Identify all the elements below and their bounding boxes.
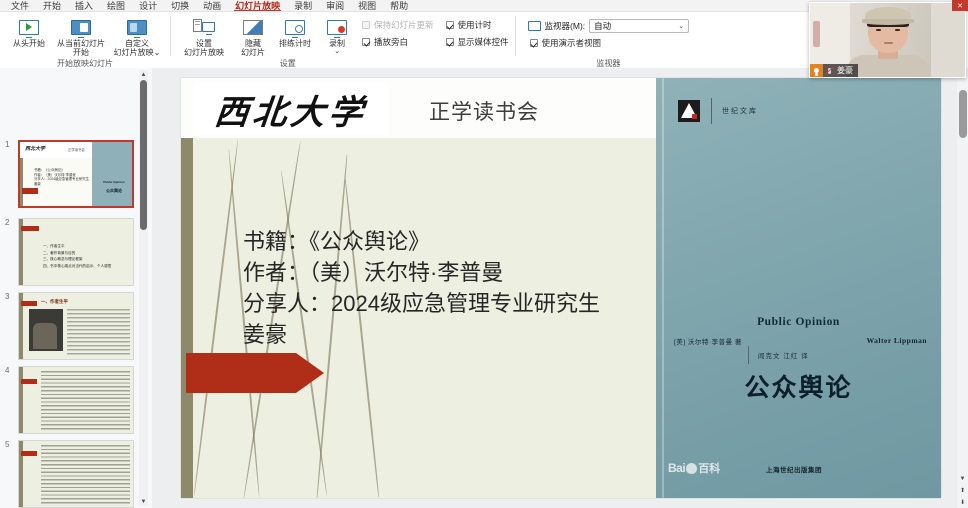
current-slide[interactable]: 西北大学 正学读书会 书籍：《公众舆论》 作者：（美）沃尔特·李普曼 分享人：2… [181,78,941,498]
body-line-3: 分享人：2024级应急管理专业研究生 [243,288,713,319]
setup-slideshow-button[interactable]: 设置 幻灯片放映 [177,14,231,57]
thumb-number-5: 5 [5,440,9,449]
slide-thumbnail-1[interactable]: 西北大学 正学读书会 书籍：《公众舆论》作者：（美）沃尔特·李普曼分享人：202… [18,140,134,208]
show-media-controls-checkbox[interactable]: 显示媒体控件 [446,36,509,48]
webcam-user-name: 姜豪 [837,65,853,76]
thumb-number-3: 3 [5,292,9,301]
record-button[interactable]: 录制 ⌄ [317,14,357,55]
checkbox-box [446,38,454,46]
checkbox-box [530,39,538,47]
webcam-name-label: 姜豪 [810,64,858,77]
rehearse-timings-label: 排练计时 [279,39,311,48]
tab-view[interactable]: 视图 [351,1,383,11]
slide-canvas-area: 西北大学 正学读书会 书籍：《公众舆论》 作者：（美）沃尔特·李普曼 分享人：2… [157,68,957,508]
checkbox-box [362,38,370,46]
keep-slides-updated-checkbox[interactable]: 保持幻灯片更新 [362,19,434,31]
tab-animations[interactable]: 动画 [196,1,228,11]
slide-thumbnail-2[interactable]: 一、作者生平二、著作背景与目的三、核心概念与理论框架四、书中核心观点对当代的启示… [18,218,134,286]
tab-file[interactable]: 文件 [4,1,36,11]
red-arrow-accent [186,353,296,393]
tab-slideshow[interactable]: 幻灯片放映 [228,1,287,11]
record-label: 录制 [329,39,345,48]
university-logo: 西北大学 [193,83,389,135]
slide-thumbnail-5[interactable] [18,440,134,508]
book-spine [662,78,664,498]
slide-thumbnail-3[interactable]: 一、作者生平 [18,292,134,360]
body-line-1: 书籍：《公众舆论》 [243,226,713,257]
rehearse-timings-button[interactable]: 排练计时 [275,14,315,48]
from-current-slide-button[interactable]: 从当前幻灯片 开始 [54,14,108,57]
webcam-wall-right [931,3,965,77]
custom-show-icon [125,16,149,38]
scroll-up-icon[interactable]: ▲ [139,70,148,79]
play-narrations-checkbox[interactable]: 播放旁白 [362,36,434,48]
ribbon-group-settings: 设置 幻灯片放映 隐藏 幻灯片 排练计时 [173,12,513,69]
mic-muted-icon[interactable] [823,68,835,74]
hide-slide-icon [241,16,265,38]
checkbox-box [446,21,454,29]
ribbon-group-monitor: 监视器(M): 自动 ⌄ 使用演示者视图 监视器 [518,12,694,69]
tab-home[interactable]: 开始 [36,1,68,11]
use-timings-checkbox[interactable]: 使用计时 [446,19,509,31]
use-presenter-view-label: 使用演示者视图 [542,37,602,49]
monitor-screen-icon [528,21,541,31]
setup-slideshow-label: 设置 幻灯片放映 [184,39,224,57]
thumb-number-2: 2 [5,218,9,227]
thumbnail-scrollbar[interactable]: ▲ ▼ [139,70,148,506]
book-publisher: 上海世纪出版集团 [766,464,822,474]
settings-checkbox-column-2: 使用计时 显示媒体控件 [436,14,509,48]
record-icon [325,16,349,38]
tab-draw[interactable]: 绘图 [100,1,132,11]
play-narrations-label: 播放旁白 [374,36,408,48]
hide-slide-button[interactable]: 隐藏 幻灯片 [233,14,273,57]
book-title-cn: 公众舆论 [656,368,941,404]
ribbon-divider [515,16,516,56]
setup-show-icon [192,16,216,38]
slide-scrollbar-thumb[interactable] [959,90,967,138]
powerpoint-window: 文件 开始 插入 绘图 设计 切换 动画 幻灯片放映 录制 审阅 视图 帮助 [0,0,968,508]
monitor-label: 监视器(M): [545,20,586,32]
book-divider [711,98,712,124]
keep-slides-updated-label: 保持幻灯片更新 [374,19,434,31]
book-translators: 阎克文 江红 译 [758,350,809,360]
custom-slideshow-label: 自定义 幻灯片放映⌄ [114,39,161,57]
scroll-down-icon[interactable]: ▼ [957,473,968,484]
custom-slideshow-button[interactable]: 自定义 幻灯片放映⌄ [110,14,164,57]
book-title-en: Public Opinion [656,316,941,328]
slide-header-title: 正学读书会 [429,96,539,126]
thumb-number-1: 1 [5,140,9,149]
thumb-number-4: 4 [5,366,9,375]
paw-icon [686,463,697,474]
publisher-logo-icon [678,100,700,122]
book-author-en: Walter Lippman [867,336,927,345]
tab-review[interactable]: 审阅 [319,1,351,11]
scroll-down-icon[interactable]: ▼ [139,497,148,506]
webcam-overlay[interactable]: 姜豪 [809,2,966,78]
chevron-down-icon[interactable]: ⌄ [334,49,340,55]
thumbnail-scrollbar-thumb[interactable] [140,80,147,230]
university-logo-text: 西北大学 [212,85,369,134]
checkbox-box [362,21,370,29]
chevron-down-icon[interactable]: ⌄ [154,48,161,57]
monitor-select-value: 自动 [594,20,611,32]
from-beginning-label: 从头开始 [13,39,45,48]
webcam-person [846,13,930,77]
settings-checkbox-column-1: 保持幻灯片更新 播放旁白 [359,14,434,48]
monitor-select[interactable]: 自动 ⌄ [589,19,689,33]
previous-slide-icon[interactable]: ⬆ [957,485,968,496]
baidu-baike-watermark: Bai百科 [668,460,720,476]
rehearse-timing-icon [283,16,307,38]
tab-insert[interactable]: 插入 [68,1,100,11]
use-timings-label: 使用计时 [458,19,492,31]
editor-main: 1 西北大学 正学读书会 书籍：《公众舆论》作者：（美）沃尔特·李普曼分享人：2… [0,68,968,508]
slide-thumbnail-pane[interactable]: 1 西北大学 正学读书会 书籍：《公众舆论》作者：（美）沃尔特·李普曼分享人：2… [0,68,152,508]
play-screen-icon [17,16,41,38]
body-line-2: 作者：（美）沃尔特·李普曼 [243,257,713,288]
book-cover-image: 世纪文库 Public Opinion [美] 沃尔特·李普曼 著 Walter… [656,78,941,498]
book-author-cn: [美] 沃尔特·李普曼 著 [674,336,742,346]
use-presenter-view-checkbox[interactable]: 使用演示者视图 [528,37,602,49]
close-icon[interactable]: ✕ [952,0,968,11]
next-slide-icon[interactable]: ⬇ [957,497,968,508]
book-rule [748,346,749,364]
slide-body-text: 书籍：《公众舆论》 作者：（美）沃尔特·李普曼 分享人：2024级应急管理专业研… [243,226,713,350]
window-controls: ✕ [952,0,968,11]
slide-scrollbar[interactable]: ▲ ▼ ⬆ ⬇ [957,68,968,508]
chevron-down-icon: ⌄ [678,22,684,30]
tab-design[interactable]: 设计 [132,1,164,11]
hide-slide-label: 隐藏 幻灯片 [241,39,265,57]
webcam-wall-object [813,21,820,47]
from-beginning-button[interactable]: 从头开始 [6,14,52,48]
slide-thumbnail-4[interactable] [18,366,134,434]
tab-record[interactable]: 录制 [287,1,319,11]
show-media-controls-label: 显示媒体控件 [458,36,509,48]
tab-help[interactable]: 帮助 [383,1,415,11]
ribbon-divider [170,16,171,56]
user-icon [810,64,823,77]
body-line-4: 姜豪 [243,319,713,350]
book-imprint: 世纪文库 [722,106,758,116]
monitor-row: 监视器(M): 自动 ⌄ [528,14,690,33]
from-current-slide-label: 从当前幻灯片 开始 [57,39,105,57]
current-slide-icon [69,16,93,38]
tab-transitions[interactable]: 切换 [164,1,196,11]
